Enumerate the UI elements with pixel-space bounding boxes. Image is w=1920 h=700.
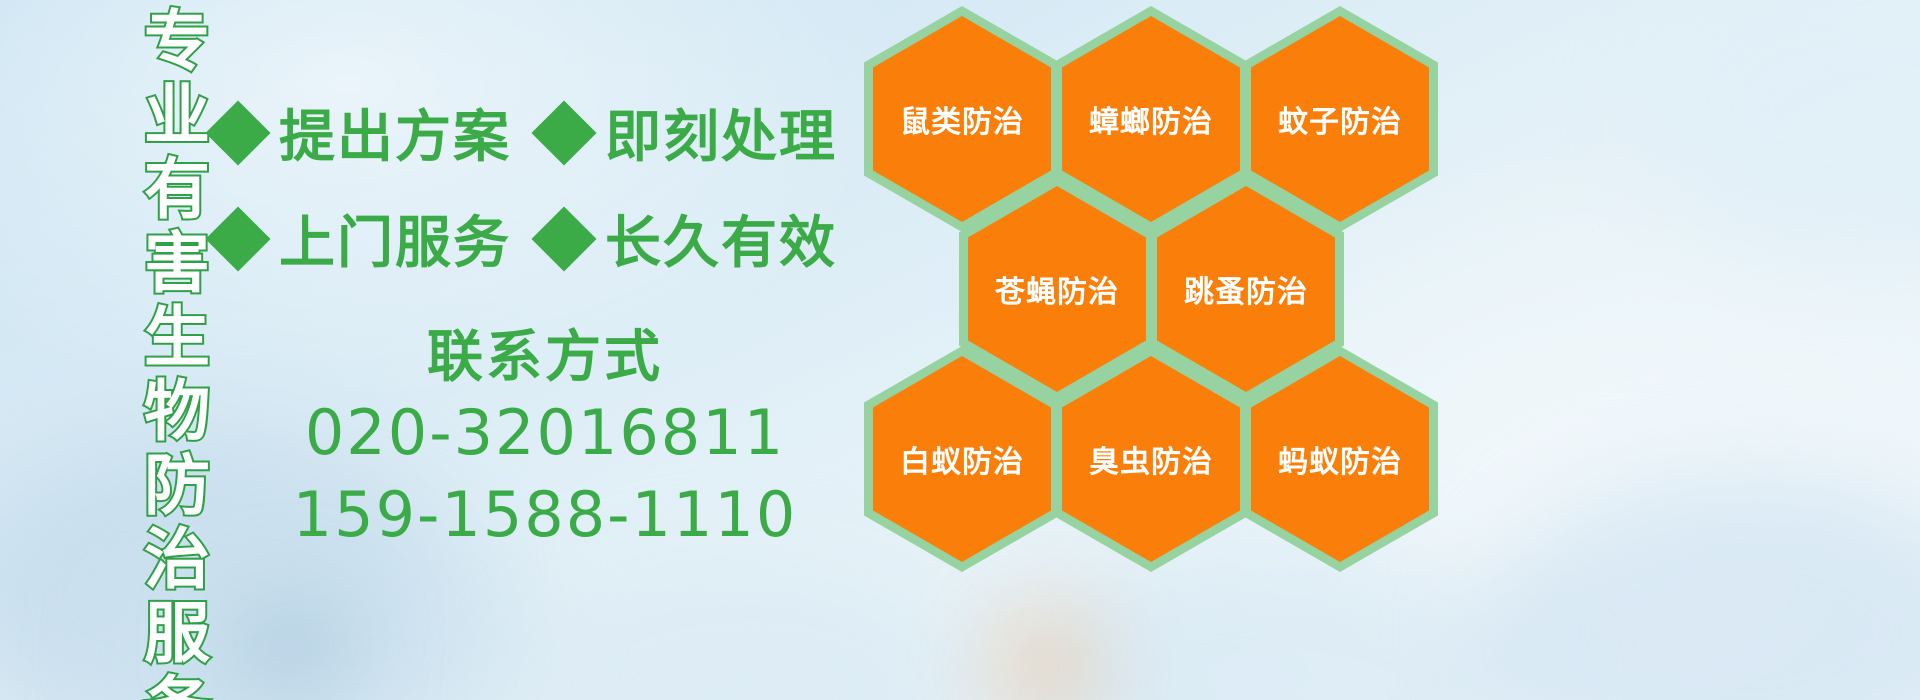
service-hex-label: 鼠类防治 bbox=[900, 97, 1024, 141]
feature-label-onsite-service: 上门服务 bbox=[279, 198, 511, 279]
service-hex-fill: 苍蝇防治 bbox=[968, 186, 1146, 392]
feature-label-long-lasting: 长久有效 bbox=[605, 198, 837, 279]
diamond-icon bbox=[205, 100, 270, 165]
service-hex-fill: 鼠类防治 bbox=[873, 16, 1051, 222]
contact-heading: 联系方式 bbox=[215, 312, 875, 393]
service-hex-fill: 蚂蚁防治 bbox=[1251, 356, 1429, 562]
phone-number-landline[interactable]: 020-32016811 bbox=[215, 396, 875, 469]
service-hex-label: 苍蝇防治 bbox=[995, 267, 1119, 311]
service-hex-fill: 跳蚤防治 bbox=[1157, 186, 1335, 392]
service-hex-label: 跳蚤防治 bbox=[1184, 267, 1308, 311]
center-content: 提出方案 即刻处理 上门服务 长久有效 联系方式 020-32016811 15… bbox=[215, 0, 875, 700]
service-hex-label: 蚊子防治 bbox=[1278, 97, 1402, 141]
service-hex-fill: 臭虫防治 bbox=[1062, 356, 1240, 562]
diamond-icon bbox=[531, 100, 596, 165]
service-hex-fill: 蚊子防治 bbox=[1251, 16, 1429, 222]
service-hex-fill: 蟑螂防治 bbox=[1062, 16, 1240, 222]
diamond-icon bbox=[531, 206, 596, 271]
service-hex-label: 白蚁防治 bbox=[900, 437, 1024, 481]
diamond-icon bbox=[205, 206, 270, 271]
phone-number-mobile[interactable]: 159-1588-1110 bbox=[215, 478, 875, 551]
background-blur-smudge bbox=[1650, 0, 1920, 260]
background-blur-smudge bbox=[1000, 610, 1090, 700]
feature-label-propose-plan: 提出方案 bbox=[279, 92, 511, 173]
background-blur-smudge bbox=[1020, 545, 1540, 700]
service-hex-label: 臭虫防治 bbox=[1089, 437, 1213, 481]
service-hexagon-grid: 鼠类防治 蟑螂防治 蚊子防治 苍蝇防治 跳蚤防治 白蚁防治 bbox=[862, 0, 1462, 568]
feature-row-1: 提出方案 即刻处理 bbox=[215, 92, 875, 173]
background-blur-smudge bbox=[1480, 470, 1920, 700]
promo-banner: 专业有害生物防治服务 提出方案 即刻处理 上门服务 长久有效 联系方式 020-… bbox=[0, 0, 1920, 700]
feature-label-immediate-handling: 即刻处理 bbox=[605, 92, 837, 173]
service-hex-label: 蟑螂防治 bbox=[1089, 97, 1213, 141]
service-hex-fill: 白蚁防治 bbox=[873, 356, 1051, 562]
vertical-headline: 专业有害生物防治服务 bbox=[108, 6, 204, 686]
feature-row-2: 上门服务 长久有效 bbox=[215, 198, 875, 279]
service-hex-label: 蚂蚁防治 bbox=[1278, 437, 1402, 481]
